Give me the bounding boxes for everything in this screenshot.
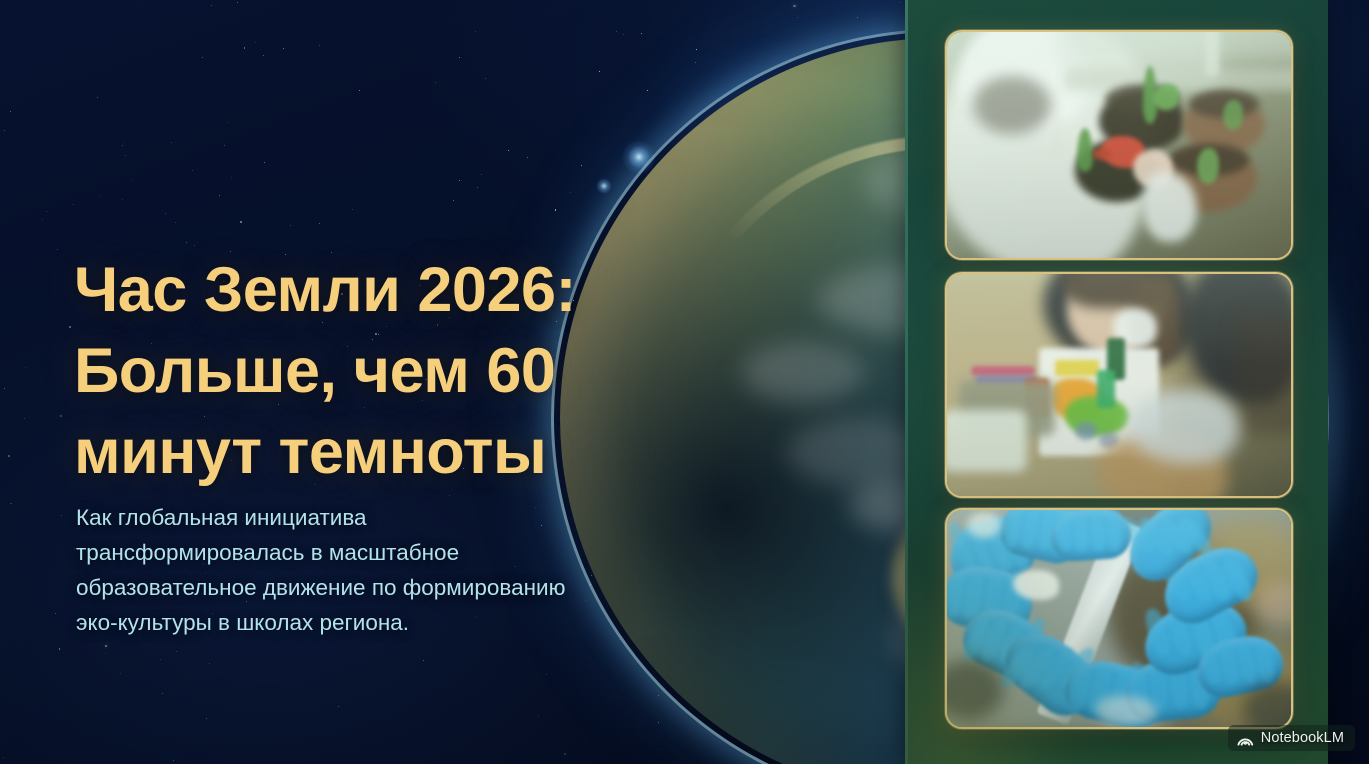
image-panel	[905, 0, 1328, 764]
notebooklm-label: NotebookLM	[1261, 730, 1344, 746]
photo-children-drawing	[947, 274, 1291, 496]
notebooklm-watermark: NotebookLM	[1228, 725, 1355, 751]
gallery-card-drawing[interactable]	[945, 272, 1293, 498]
presentation-slide: Час Земли 2026: Больше, чем 60 минут тем…	[0, 0, 1369, 764]
page-title: Час Земли 2026: Больше, чем 60 минут тем…	[74, 250, 694, 493]
gallery-card-gloved-hands[interactable]	[945, 508, 1293, 729]
panel-left-edge	[905, 0, 908, 764]
page-subtitle: Как глобальная инициатива трансформирова…	[76, 500, 756, 640]
gallery-card-planting[interactable]	[945, 30, 1293, 260]
photo-gloved-hands-soil	[947, 510, 1291, 727]
notebooklm-logo-icon	[1237, 731, 1254, 746]
photo-planting-seedlings	[947, 32, 1291, 258]
